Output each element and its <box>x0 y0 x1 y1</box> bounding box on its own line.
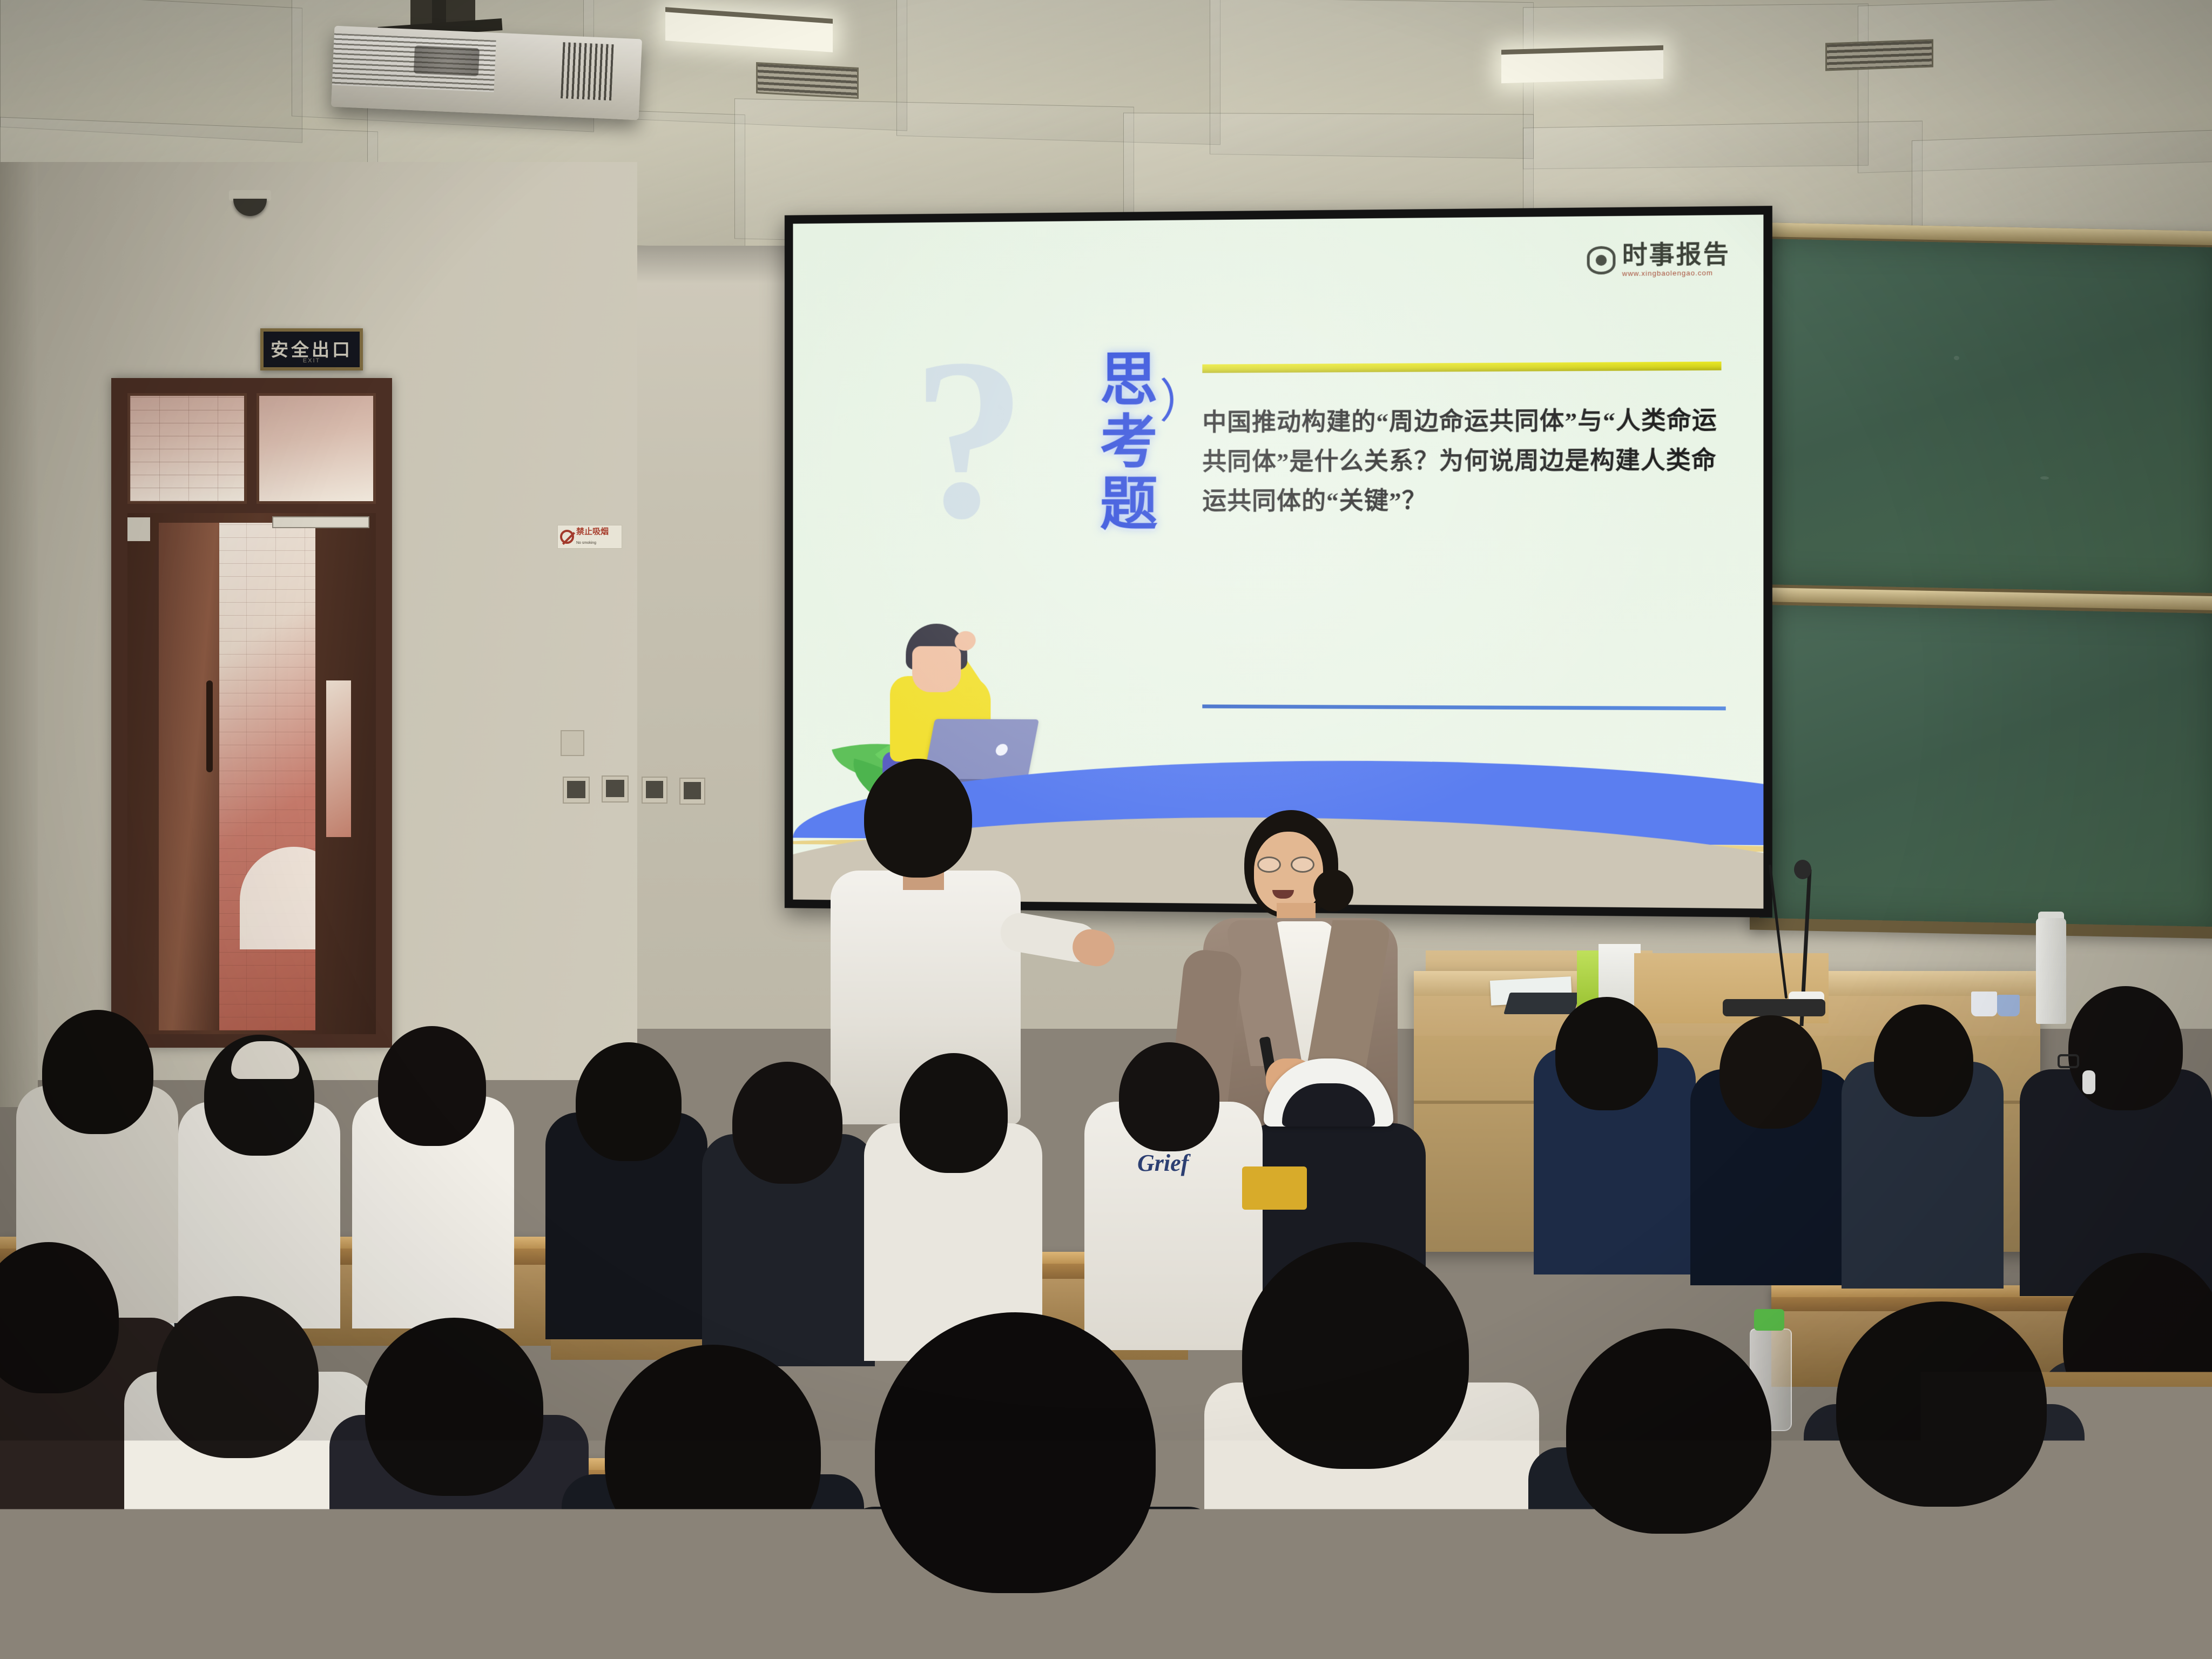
slide-rule-top <box>1202 361 1721 373</box>
brand-url: www.xingbaolengao.com <box>1622 268 1730 278</box>
no-smoking-sign: 禁止吸烟 No smoking <box>557 525 622 549</box>
slide-title-paren: ） <box>1159 363 1206 431</box>
light-switch[interactable] <box>642 777 667 804</box>
teacher-hair-bun <box>1313 869 1353 912</box>
classroom-door[interactable] <box>111 378 392 1048</box>
student-head <box>1119 1042 1219 1151</box>
door-closer <box>272 516 369 528</box>
glasses-icon <box>1257 857 1316 873</box>
student-head <box>2063 1253 2212 1426</box>
air-vent <box>1825 39 1933 71</box>
projector-side-vents <box>561 42 613 100</box>
projector-lens <box>414 45 480 76</box>
door-window-pane <box>257 393 376 504</box>
glasses-icon <box>2058 1054 2105 1068</box>
hoodie-text: Grief <box>1137 1149 1189 1177</box>
emergency-exit-sign: 安全出口 EXIT <box>260 328 363 370</box>
student-head <box>42 1010 153 1134</box>
ceiling-light <box>1501 45 1663 83</box>
door-hinge <box>127 517 150 541</box>
thermos-flask <box>2036 918 2066 1024</box>
student-head <box>157 1296 319 1458</box>
door-transom-windows <box>127 393 376 504</box>
exit-sign-label-en: EXIT <box>264 358 360 364</box>
slide-rule-bottom <box>1202 704 1725 710</box>
air-vent <box>756 62 859 99</box>
question-mark-watermark: ? <box>912 323 1026 554</box>
no-smoking-label-cn: 禁止吸烟 <box>576 527 609 536</box>
no-smoking-icon <box>560 530 574 544</box>
door-handle[interactable] <box>206 680 213 772</box>
bottle-cap <box>1754 1309 1784 1331</box>
blackboard-panel-upper <box>1759 239 2212 593</box>
cap-opening <box>1282 1083 1375 1127</box>
student-head <box>365 1318 543 1496</box>
brand-logo: 时事报告 www.xingbaolengao.com <box>1587 241 1730 278</box>
cable-bundle <box>1723 999 1825 1016</box>
eye-logo-icon <box>1587 246 1616 274</box>
student-head <box>900 1053 1008 1173</box>
exit-sign-label-cn: 安全出口 <box>271 341 353 359</box>
student-head <box>378 1026 486 1146</box>
student-head <box>605 1345 821 1561</box>
standing-student-head <box>864 759 972 878</box>
student-head <box>1874 1004 1973 1117</box>
slide-question-text: 中国推动构建的“周边命运共同体”与“人类命运共同体”是什么关系？为何说周边是构建… <box>1202 401 1725 521</box>
slide-vertical-title: 思考题 <box>1094 349 1164 536</box>
ceiling-projector <box>331 26 642 120</box>
door-window-pane <box>127 393 247 504</box>
cup <box>1971 992 1997 1016</box>
blackboard-panel-lower <box>1759 605 2212 927</box>
brand-name: 时事报告 <box>1622 240 1730 269</box>
no-smoking-label-en: No smoking <box>576 541 596 545</box>
student-head <box>732 1062 842 1184</box>
figure-face <box>912 646 961 692</box>
classroom-photo: 安全出口 EXIT 禁止吸烟 No smoking <box>0 0 2212 1659</box>
blackboard <box>1750 222 2212 939</box>
microphone-icon <box>1794 860 1811 879</box>
wall-pillar <box>0 162 38 1107</box>
wall-outlet-plate[interactable] <box>561 730 584 756</box>
student-head <box>1566 1328 1771 1534</box>
student-head <box>1555 997 1658 1110</box>
light-switch[interactable] <box>602 775 629 802</box>
student-head <box>875 1312 1156 1593</box>
light-switch[interactable] <box>679 778 705 805</box>
student-head <box>1719 1015 1822 1129</box>
student-head <box>576 1042 682 1161</box>
light-switch[interactable] <box>563 777 590 804</box>
student-head <box>1836 1301 2047 1507</box>
earbud-icon <box>2082 1070 2095 1094</box>
podium-laptop <box>1503 993 1580 1014</box>
door-side-glass <box>326 680 351 837</box>
blue-cup <box>1997 995 2020 1016</box>
student-head <box>1242 1242 1469 1469</box>
yellow-bag <box>1242 1166 1307 1210</box>
inner-door-leaf[interactable] <box>159 523 219 1030</box>
